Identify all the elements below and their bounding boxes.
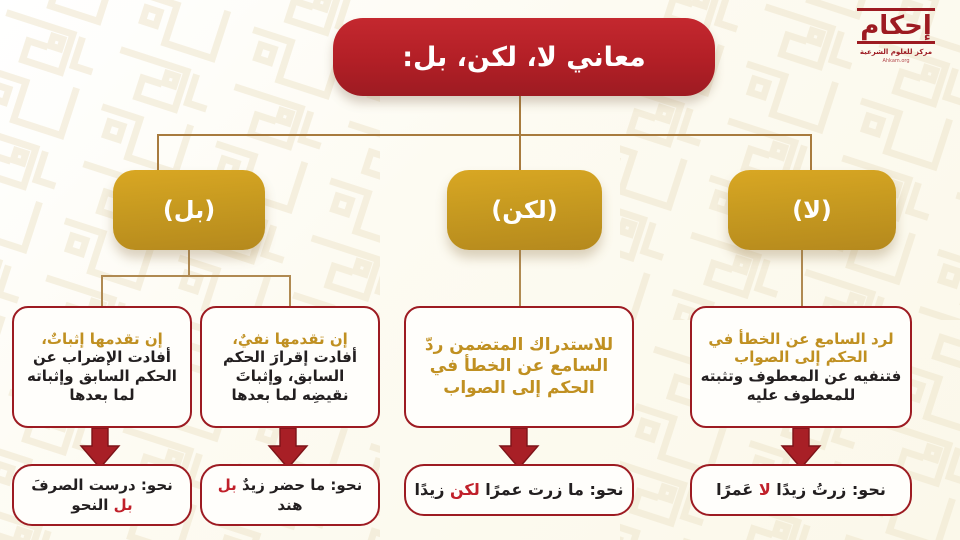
example-lakin-prefix: نحو: ما زرت عمرًا	[480, 480, 624, 499]
node-lakin-label: (لكن)	[491, 196, 558, 224]
desc-la-purpose: لرد السامع عن الخطأ في الحكم إلى الصواب	[700, 330, 902, 367]
example-bal-ithbat-suffix: النحو	[71, 496, 113, 514]
example-bal-ithbat-prefix: نحو: درست الصرفَ	[31, 476, 173, 494]
desc-bal-ithbat-body: أفادت الإضراب عن الحكم السابق وإثباته لم…	[22, 348, 182, 404]
page-title: معاني لا، لكن، بل:	[333, 18, 715, 96]
brand-logo-mark: إحكام	[857, 8, 935, 44]
desc-bal-nafy-condition: إن تقدمها نفيٌ،	[232, 330, 348, 349]
example-la-highlight: لا	[759, 480, 771, 499]
example-la-suffix: عَمرًا	[716, 480, 759, 499]
example-bal-nafy-prefix: نحو: ما حضر زيدٌ	[237, 476, 363, 494]
brand-logo-url: Ahkam.org	[882, 58, 909, 64]
node-bal-label: (بل)	[163, 196, 215, 224]
desc-bal-ithbat: إن تقدمها إثباتٌ، أفادت الإضراب عن الحكم…	[12, 306, 192, 428]
desc-lakin-body: للاستدراك المتضمن ردّ السامع عن الخطأ في…	[414, 335, 624, 398]
brand-logo-subtitle: مركز للعلوم الشرعية	[860, 48, 932, 56]
example-lakin-highlight: لكن	[450, 480, 480, 499]
node-lakin[interactable]: (لكن)	[447, 170, 602, 250]
brand-logo[interactable]: إحكام مركز للعلوم الشرعية Ahkam.org	[848, 8, 944, 82]
desc-lakin: للاستدراك المتضمن ردّ السامع عن الخطأ في…	[404, 306, 634, 428]
example-bal-nafy: نحو: ما حضر زيدٌ بل هند	[200, 464, 380, 526]
desc-bal-ithbat-condition: إن تقدمها إثباتٌ،	[41, 330, 163, 349]
example-la-prefix: نحو: زرتُ زيدًا	[771, 480, 886, 499]
example-bal-nafy-highlight: بل	[218, 476, 237, 494]
example-lakin-suffix: زيدًا	[415, 480, 451, 499]
node-bal[interactable]: (بل)	[113, 170, 265, 250]
desc-bal-nafy-body: أفادت إقرارَ الحكم السابق، وإثباتَ نقيضِ…	[210, 348, 370, 404]
example-bal-ithbat: نحو: درست الصرفَ بل النحو	[12, 464, 192, 526]
page-title-text: معاني لا، لكن، بل:	[402, 42, 646, 73]
example-lakin: نحو: ما زرت عمرًا لكن زيدًا	[404, 464, 634, 516]
desc-bal-nafy: إن تقدمها نفيٌ، أفادت إقرارَ الحكم الساب…	[200, 306, 380, 428]
example-bal-ithbat-highlight: بل	[114, 496, 133, 514]
node-la[interactable]: (لا)	[728, 170, 896, 250]
example-la: نحو: زرتُ زيدًا لا عَمرًا	[690, 464, 912, 516]
desc-la: لرد السامع عن الخطأ في الحكم إلى الصواب …	[690, 306, 912, 428]
node-la-label: (لا)	[792, 196, 832, 224]
desc-la-body: فتنفيه عن المعطوف وتثبته للمعطوف عليه	[700, 367, 902, 404]
example-bal-nafy-suffix: هند	[277, 496, 302, 514]
